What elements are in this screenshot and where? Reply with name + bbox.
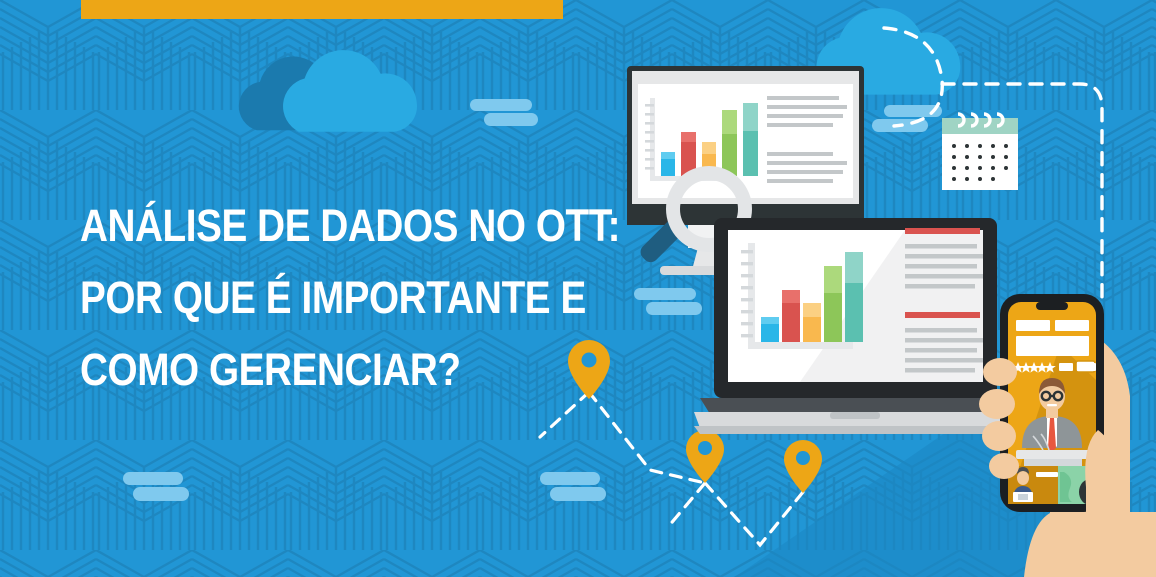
headline-line-1: ANÁLISE DE DADOS NO OTT:: [80, 190, 544, 262]
top-accent-bar: [81, 0, 563, 19]
page-title: ANÁLISE DE DADOS NO OTT: POR QUE É IMPOR…: [80, 190, 544, 406]
banner-root: ANÁLISE DE DADOS NO OTT: POR QUE É IMPOR…: [0, 0, 1156, 577]
headline-line-3: COMO GERENCIAR?: [80, 334, 544, 406]
headline-line-2: POR QUE É IMPORTANTE E: [80, 262, 544, 334]
